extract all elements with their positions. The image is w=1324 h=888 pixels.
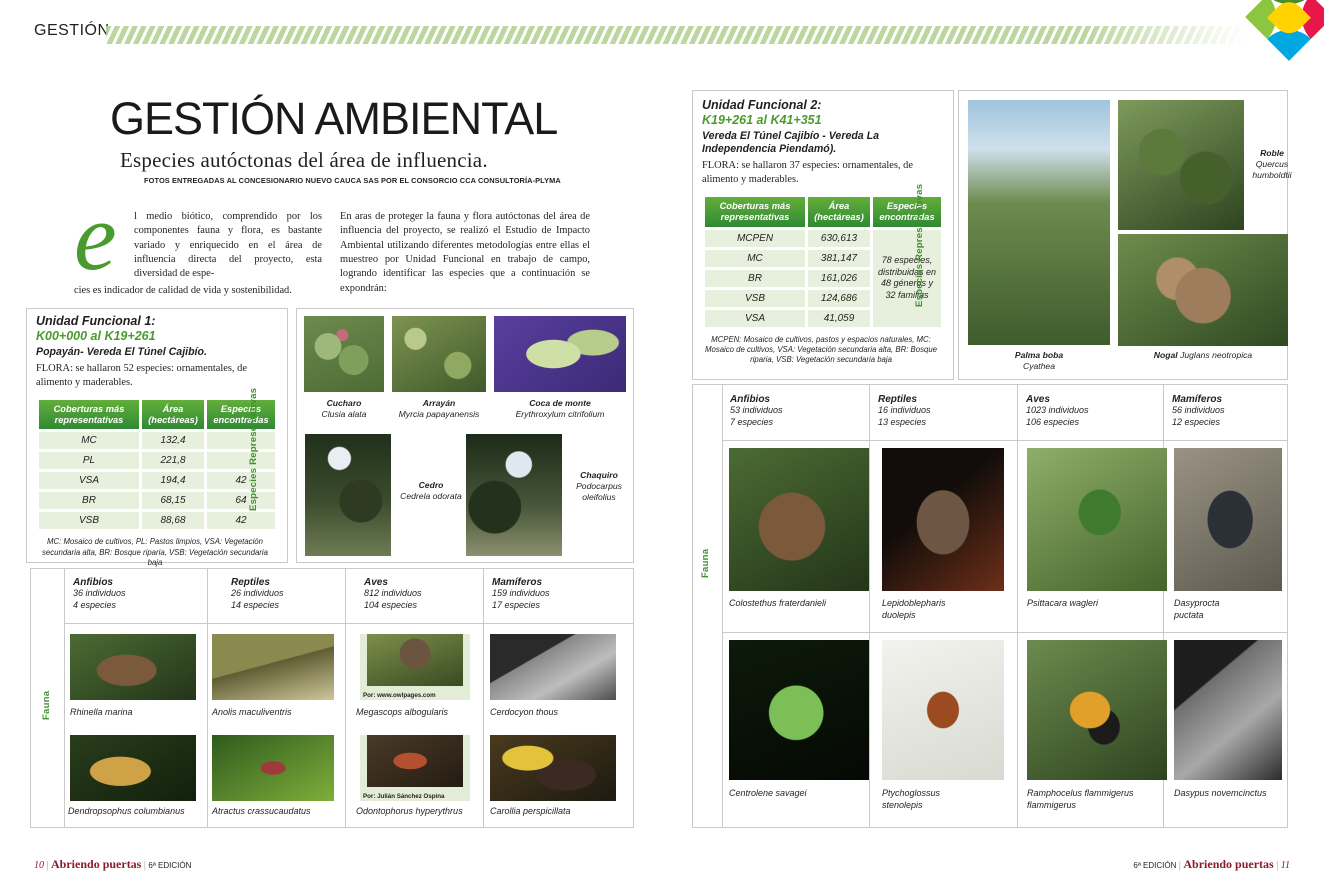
uf2-flora-note: FLORA: se hallaron 37 especies: ornament… [702, 159, 946, 187]
uf1-cell-sp-1 [207, 452, 275, 469]
uf2-fauna-side-label: Fauna [700, 530, 711, 578]
footer-magazine-left: Abriendo puertas [51, 857, 141, 871]
uf2-fauna-group-2: Aves 1023 individuos 106 especies [1026, 394, 1089, 428]
uf1-cell-cov-4: VSB [39, 512, 139, 529]
uf1-fauna-col-divider-1 [207, 568, 208, 828]
fauna-photo-atractus-crassucaudatus [212, 735, 334, 801]
uf1-cell-sp-3: 64 [207, 492, 275, 509]
fauna2-photo-colostethus-fraterdanieli [729, 448, 869, 591]
photo-credit-badge-1: Por: Julián Sánchez Ospina [360, 792, 470, 801]
page-subtitle: Especies autóctonas del área de influenc… [120, 148, 560, 173]
uf2-legend: MCPEN: Mosaico de cultivos, pastos y esp… [702, 335, 940, 366]
uf1-th-1: Área (hectáreas) [142, 400, 204, 430]
uf2-th-1: Área (hectáreas) [808, 197, 870, 227]
flora-caption-3: Cedro Cedrela odorata [400, 480, 462, 502]
uf1-cell-area-4: 88,68 [142, 512, 204, 529]
table-row: VSB88,6842 [39, 512, 275, 529]
uf2-cell-area-0: 630,613 [808, 230, 870, 247]
flora-caption-1: Arrayán Myrcia papayanensis [386, 398, 492, 420]
flora-photo-cucharo [304, 316, 384, 392]
fauna2-caption-3: Dasyprocta puctata [1174, 598, 1250, 621]
footer-page-number-right: 11 [1281, 860, 1290, 871]
fauna-caption-6: Odontophorus hyperythrus [356, 806, 490, 818]
uf1-fauna-col-divider-2 [345, 568, 346, 828]
uf1-coverage-table: Coberturas más representativas Área (hec… [36, 397, 278, 533]
uf2-cell-cov-4: VSA [705, 310, 805, 327]
photo-credit-line: FOTOS ENTREGADAS AL CONCESIONARIO NUEVO … [144, 176, 564, 185]
table-header-row: Coberturas más representativas Área (hec… [39, 400, 275, 430]
table-row: VSA194,442 [39, 472, 275, 489]
uf1-th-0: Coberturas más representativas [39, 400, 139, 430]
fauna2-caption-6: Ramphocelus flammigerus flammigerus [1027, 788, 1155, 811]
fauna2-caption-2: Psittacara wagleri [1027, 598, 1167, 610]
footer-right: 6ª EDICIÓN | Abriendo puertas | 11 [1133, 857, 1290, 872]
uf2-cell-area-1: 381,147 [808, 250, 870, 267]
fauna2-photo-psittacara-wagleri [1027, 448, 1167, 591]
fauna-photo-cerdocyon-thous [490, 634, 616, 700]
flora2-caption-0: Palma boba Cyathea [968, 350, 1110, 372]
uf2-coverage-table: Coberturas más representativas Área (hec… [702, 194, 944, 330]
uf1-fauna-group-1: Reptiles 26 individuos 14 especies [231, 577, 284, 611]
uf2-th-0: Coberturas más representativas [705, 197, 805, 227]
flora-photo-cedro [305, 434, 391, 556]
uf1-fauna-side-divider [64, 568, 65, 828]
uf1-legend: MC: Mosaico de cultivos, PL: Pastos limp… [40, 537, 270, 568]
flora-caption-4: Chaquiro Podocarpus oleifolius [566, 470, 632, 503]
table-header-row: Coberturas más representativas Área (hec… [705, 197, 941, 227]
uf1-cell-sp-0 [207, 432, 275, 449]
uf2-fauna-row-divider [722, 632, 1288, 633]
uf1-fauna-side-label: Fauna [41, 672, 52, 720]
flora2-caption-2: Nogal Juglans neotropica [1114, 350, 1292, 361]
table-row: BR68,1564 [39, 492, 275, 509]
intro-column-1-runon: cies es indicador de calidad de vida y s… [74, 284, 322, 298]
footer-edition-left: 6ª EDICIÓN [148, 861, 191, 870]
uf2-fauna-header-divider [722, 440, 1288, 441]
uf1-fauna-col-divider-3 [483, 568, 484, 828]
table-row: PL221,8 [39, 452, 275, 469]
uf1-cell-area-0: 132,4 [142, 432, 204, 449]
unidad-funcional-2: Unidad Funcional 2: K19+261 al K41+351 V… [702, 98, 946, 365]
footer-page-number-left: 10 [34, 860, 44, 871]
uf2-cell-area-2: 161,026 [808, 270, 870, 287]
uf2-cell-cov-1: MC [705, 250, 805, 267]
footer-edition-right: 6ª EDICIÓN [1133, 861, 1176, 870]
uf2-cell-cov-0: MCPEN [705, 230, 805, 247]
uf1-cell-area-2: 194,4 [142, 472, 204, 489]
drop-cap: e [74, 200, 117, 275]
fauna2-photo-ptychoglossus-stenolepis [882, 640, 1004, 780]
fauna2-photo-dasyprocta-puctata [1174, 448, 1282, 591]
fauna-caption-3: Cerdocyon thous [490, 707, 620, 719]
uf1-location: Popayán- Vereda El Túnel Cajibío. [36, 346, 280, 359]
uf1-range: K00+000 al K19+261 [36, 329, 280, 344]
uf2-fauna-col-divider-2 [1017, 384, 1018, 828]
uf2-species-note: 78 especies, distribuidas en 48 géneros … [873, 230, 941, 327]
uf1-cell-sp-2: 42 [207, 472, 275, 489]
fauna-caption-5: Atractus crassucaudatus [212, 806, 346, 818]
fauna2-caption-7: Dasypus novemcinctus [1174, 788, 1274, 800]
fauna2-photo-lepidoblepharis-duolepis [882, 448, 1004, 591]
right-page: Unidad Funcional 2: K19+261 al K41+351 V… [662, 0, 1324, 888]
fauna2-caption-1: Lepidoblepharis duolepis [882, 598, 960, 621]
footer-sep-4: | [1276, 860, 1278, 871]
uf2-cell-cov-2: BR [705, 270, 805, 287]
uf2-side-label: Especies Representativas [914, 182, 925, 307]
flora-photo-chaquiro [466, 434, 562, 556]
uf2-cell-cov-3: VSB [705, 290, 805, 307]
uf1-cell-sp-4: 42 [207, 512, 275, 529]
footer-sep-3: | [1179, 860, 1181, 871]
uf1-fauna-group-3: Mamíferos 159 individuos 17 especies [492, 577, 550, 611]
fauna-photo-rhinella-marina [70, 634, 196, 700]
uf2-cell-area-3: 124,686 [808, 290, 870, 307]
unidad-funcional-1: Unidad Funcional 1: K00+000 al K19+261 P… [36, 314, 280, 568]
footer-magazine-right: Abriendo puertas [1183, 857, 1273, 871]
uf2-fauna-side-divider [722, 384, 723, 828]
uf2-cell-area-4: 41,059 [808, 310, 870, 327]
fauna2-caption-0: Colostethus fraterdanieli [729, 598, 871, 610]
uf1-fauna-group-2: Aves 812 individuos 104 especies [364, 577, 422, 611]
uf2-location: Vereda El Túnel Cajibío - Vereda La Inde… [702, 130, 946, 156]
uf1-fauna-group-0: Anfibios 36 individuos 4 especies [73, 577, 126, 611]
flora-photo-palma-boba [968, 100, 1110, 345]
table-row: MC132,4 [39, 432, 275, 449]
uf2-fauna-group-3: Mamíferos 56 individuos 12 especies [1172, 394, 1225, 428]
uf2-heading: Unidad Funcional 2: [702, 98, 946, 113]
footer-left: 10 | Abriendo puertas | 6ª EDICIÓN [34, 857, 191, 872]
flora2-caption-1: Roble Quercus humboldtii [1250, 148, 1294, 181]
fauna2-photo-ramphocelus-flammigerus [1027, 640, 1167, 780]
uf1-flora-note: FLORA: se hallaron 52 especies: ornament… [36, 362, 280, 390]
uf1-cell-cov-3: BR [39, 492, 139, 509]
uf1-cell-cov-2: VSA [39, 472, 139, 489]
fauna2-caption-4: Centrolene savagei [729, 788, 871, 800]
fauna-photo-dendropsophus-columbianus [70, 735, 196, 801]
fauna2-photo-centrolene-savagei [729, 640, 869, 780]
flora-photo-nogal [1118, 234, 1288, 346]
flora-photo-roble [1118, 100, 1244, 230]
fauna-caption-4: Dendropsophus columbianus [68, 806, 208, 818]
photo-credit-badge-0: Por: www.owlpages.com [360, 691, 470, 700]
fauna-caption-0: Rhinella marina [70, 707, 200, 719]
fauna2-caption-5: Ptychoglossus stenolepis [882, 788, 968, 811]
intro-body: e l medio biótico, comprendido por los c… [74, 202, 590, 302]
fauna-caption-2: Megascops albogularis [356, 707, 488, 719]
uf1-heading: Unidad Funcional 1: [36, 314, 280, 329]
flora-photo-arrayan [392, 316, 486, 392]
uf1-side-label: Especies Representativas [248, 386, 259, 511]
uf1-cell-cov-1: PL [39, 452, 139, 469]
uf2-fauna-group-1: Reptiles 16 individuos 13 especies [878, 394, 931, 428]
intro-column-2: En aras de proteger la fauna y flora aut… [340, 210, 590, 296]
uf1-fauna-header-divider [64, 623, 634, 624]
fauna-photo-anolis-maculiventris [212, 634, 334, 700]
fauna-photo-megascops-albogularis: Por: www.owlpages.com [360, 634, 470, 700]
fauna-caption-7: Carollia perspicillata [490, 806, 620, 818]
footer-sep-2: | [144, 860, 146, 871]
intro-column-1: l medio biótico, comprendido por los com… [134, 210, 322, 282]
uf1-cell-area-3: 68,15 [142, 492, 204, 509]
footer-sep-1: | [47, 860, 49, 871]
flora-caption-0: Cucharo Clusia alata [300, 398, 388, 420]
uf1-cell-area-1: 221,8 [142, 452, 204, 469]
uf2-th-2: Especies encontradas [873, 197, 941, 227]
fauna2-photo-dasypus-novemcinctus [1174, 640, 1282, 780]
flora-photo-coca-de-monte [494, 316, 626, 392]
uf2-fauna-group-0: Anfibios 53 individuos 7 especies [730, 394, 783, 428]
fauna-photo-odontophorus-hyperythrus: Por: Julián Sánchez Ospina [360, 735, 470, 801]
left-page: GESTIÓN AMBIENTAL Especies autóctonas de… [0, 0, 662, 888]
uf1-cell-cov-0: MC [39, 432, 139, 449]
uf1-th-2: Especies encontradas [207, 400, 275, 430]
fauna-photo-carollia-perspicillata [490, 735, 616, 801]
flora-caption-2: Coca de monte Erythroxylum citrifolium [494, 398, 626, 420]
fauna-caption-1: Anolis maculiventris [212, 707, 342, 719]
page-title: GESTIÓN AMBIENTAL [110, 96, 570, 141]
uf2-range: K19+261 al K41+351 [702, 113, 946, 128]
table-row: MCPEN630,613 78 especies, distribuidas e… [705, 230, 941, 247]
